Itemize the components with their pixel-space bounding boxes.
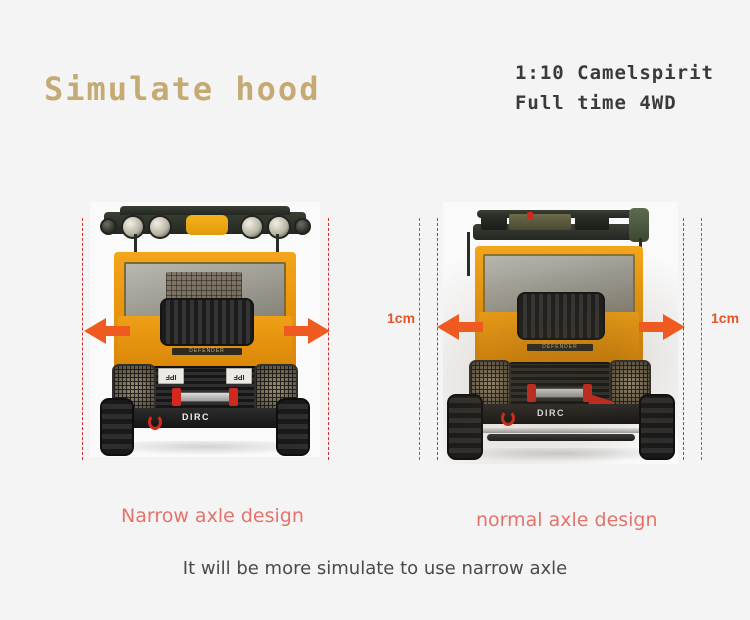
arrow-tail-right [639, 322, 665, 332]
antenna-left [467, 232, 470, 276]
snorkel [629, 208, 649, 242]
ipf-plate-left: IPF [158, 368, 184, 384]
footer-note: It will be more simulate to use narrow a… [0, 558, 750, 579]
guide-line-outer-left [419, 218, 420, 460]
roof-lamp-3-icon [148, 215, 172, 239]
roof-cargo-camo [509, 214, 571, 230]
ground-shadow [452, 448, 668, 462]
winch-mount-left [172, 388, 181, 406]
spec-line-drivetrain: Full time 4WD [515, 88, 714, 118]
spec-block: 1:10 Camelspirit Full time 4WD [515, 58, 714, 118]
roof-center-panel [186, 215, 228, 235]
arrow-head-left-icon [437, 314, 459, 340]
comparison-area: DEFENDER IPF IPF DIRC [0, 190, 750, 480]
arrow-tail-right [284, 326, 310, 336]
axle-link-bar [481, 428, 641, 433]
measure-label-right: 1cm [711, 310, 739, 326]
tow-hook [148, 414, 162, 430]
ipf-plate-right: IPF [226, 368, 252, 384]
roof-lamp-6-icon [294, 218, 311, 235]
arrow-tail-left [457, 322, 483, 332]
arrow-head-right-icon [663, 314, 685, 340]
roof-lamp-1-icon [100, 218, 117, 235]
width-arrow-right [284, 318, 330, 344]
roof-lamp-2-icon [121, 215, 145, 239]
roof-red-accessory [527, 212, 533, 220]
winch-drum [531, 388, 587, 398]
width-arrow-right [639, 314, 685, 340]
bumper-brand-text: DIRC [537, 408, 565, 418]
roof-cargo-box-left [481, 216, 507, 230]
hood-badge: DEFENDER [527, 344, 593, 351]
width-arrow-left [437, 314, 483, 340]
spec-line-scale: 1:10 Camelspirit [515, 58, 714, 88]
panel-narrow-axle: DEFENDER IPF IPF DIRC [60, 190, 360, 480]
measure-label-left: 1cm [387, 310, 415, 326]
guide-line-left [82, 218, 83, 460]
winch-mount-left [527, 384, 536, 402]
roof-lamp-4-icon [240, 215, 264, 239]
ground-shadow [99, 441, 311, 455]
bumper-brand-text: DIRC [182, 412, 210, 422]
guide-line-outer-right [701, 218, 702, 460]
caption-normal-axle: normal axle design [476, 509, 658, 531]
panel-normal-axle: 1cm 1cm [395, 190, 725, 480]
winch-drum [176, 392, 234, 402]
roof-lamp-5-icon [267, 215, 291, 239]
caption-narrow-axle: Narrow axle design [121, 505, 304, 527]
winch-mount-right [229, 388, 238, 406]
arrow-head-right-icon [308, 318, 330, 344]
page-title: Simulate hood [44, 70, 320, 108]
front-axle [487, 434, 635, 441]
roof-cargo-box-right [575, 216, 609, 230]
spare-tire [517, 292, 605, 340]
tow-hook [501, 410, 515, 426]
product-comparison-page: Simulate hood 1:10 Camelspirit Full time… [0, 0, 750, 620]
hood-badge: DEFENDER [172, 348, 242, 355]
spare-tire [160, 298, 254, 346]
width-arrow-left [84, 318, 130, 344]
roof-rack-top [120, 206, 290, 215]
arrow-head-left-icon [84, 318, 106, 344]
arrow-tail-left [104, 326, 130, 336]
